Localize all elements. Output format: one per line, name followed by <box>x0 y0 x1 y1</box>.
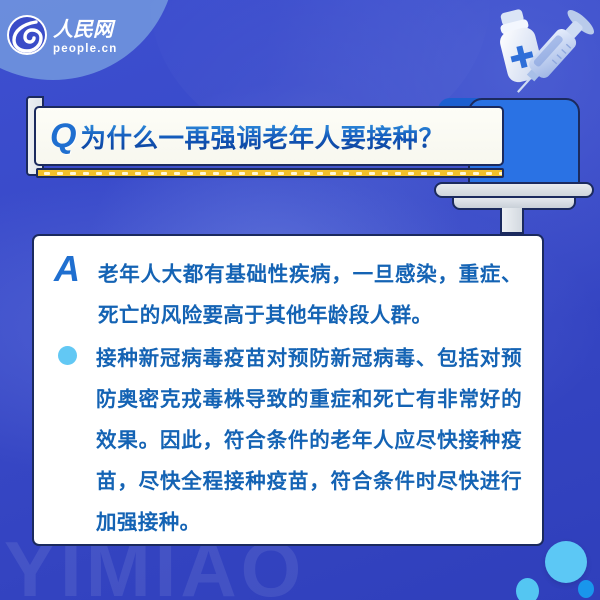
question-text: 为什么一再强调老年人要接种？ <box>80 118 444 155</box>
svg-text:人民网: 人民网 <box>53 17 116 41</box>
pedestal-post <box>500 208 524 234</box>
answer-paragraph-1: A 老年人大都有基础性疾病，一旦感染，重症、死亡的风险要高于其他年龄段人群。 <box>52 254 522 336</box>
answer-card: A 老年人大都有基础性疾病，一旦感染，重症、死亡的风险要高于其他年龄段人群。 接… <box>32 234 544 546</box>
vaccine-vial-and-syringe-icon <box>474 2 598 108</box>
decor-circle-tiny <box>578 580 594 598</box>
logo-text-block: 人民网 people.cn <box>53 16 139 55</box>
question-marker: Q <box>50 119 76 153</box>
answer-paragraph-2: 接种新冠病毒疫苗对预防新冠病毒、包括对预防奥密克戎毒株导致的重症和死亡有非常好的… <box>52 338 522 543</box>
decor-circle-large <box>545 541 587 583</box>
question-banner: Q 为什么一再强调老年人要接种？ <box>28 100 568 230</box>
people-cn-logo[interactable]: 人民网 people.cn <box>6 14 139 56</box>
answer-paragraph-1-text: 老年人大都有基础性疾病，一旦感染，重症、死亡的风险要高于其他年龄段人群。 <box>98 254 522 336</box>
answer-paragraph-2-text: 接种新冠病毒疫苗对预防新冠病毒、包括对预防奥密克戎毒株导致的重症和死亡有非常好的… <box>96 338 522 543</box>
question-card: Q 为什么一再强调老年人要接种？ <box>34 106 504 166</box>
banner-light-bar <box>36 168 504 178</box>
answer-marker: A <box>54 252 98 286</box>
bullet-dot-icon <box>52 338 96 365</box>
logo-latin-name: people.cn <box>53 43 117 55</box>
people-cn-swirl-icon <box>6 14 48 56</box>
decor-circle-small <box>516 578 539 600</box>
logo-chinese-name: 人民网 <box>53 16 139 42</box>
